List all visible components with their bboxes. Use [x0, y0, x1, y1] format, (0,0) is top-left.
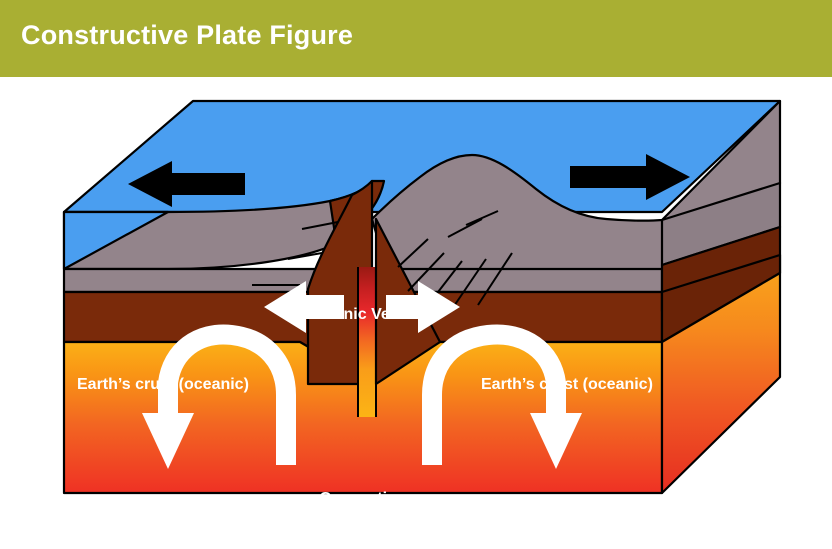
page-title: Constructive Plate Figure: [21, 20, 353, 51]
label-mantle-left: Mantle: [171, 530, 222, 548]
title-banner: Constructive Plate Figure: [0, 0, 832, 77]
magma-core-strip: [359, 267, 375, 417]
figure-canvas: Volcanic Vent Earth’s crust (oceanic) Ea…: [0, 77, 832, 513]
figure-page: Constructive Plate Figure: [0, 0, 832, 513]
convection-line-3: plates apart: [311, 529, 415, 549]
constructive-plate-diagram: [0, 77, 832, 513]
label-mantle-right: Mantle: [470, 530, 521, 548]
